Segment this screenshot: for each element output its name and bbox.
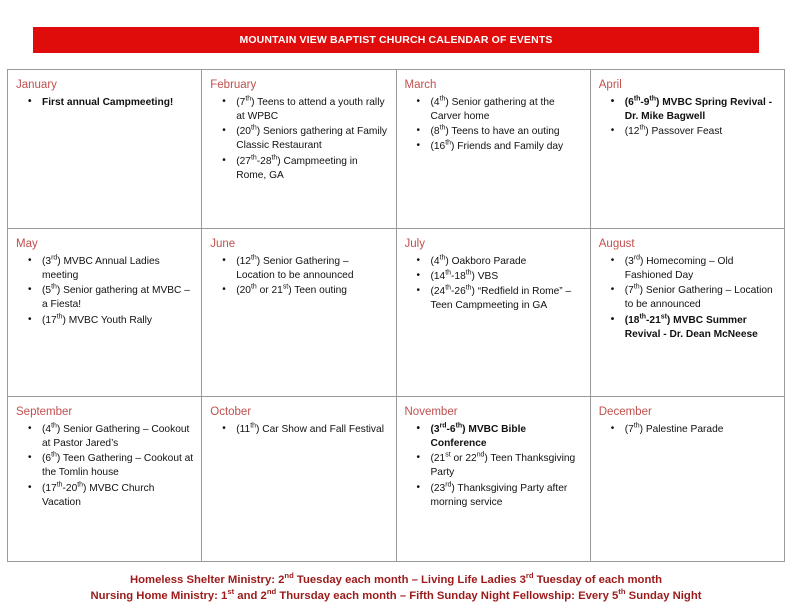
page-title: MOUNTAIN VIEW BAPTIST CHURCH CALENDAR OF… <box>239 34 552 46</box>
event-item: (17th-20th) MVBC Church Vacation <box>40 482 195 511</box>
footer-line: Homeless Shelter Ministry: 2nd Tuesday e… <box>0 572 792 588</box>
month-heading: May <box>16 238 195 251</box>
event-item: (3rd) Homecoming – Old Fashioned Day <box>623 255 778 284</box>
month-heading: March <box>405 79 584 92</box>
month-heading: August <box>599 238 778 251</box>
month-cell-december: December(7th) Palestine Parade <box>590 397 784 562</box>
event-item: (3rd) MVBC Annual Ladies meeting <box>40 255 195 284</box>
event-item: (16th) Friends and Family day <box>429 140 584 154</box>
event-item: (23rd) Thanksgiving Party after morning … <box>429 482 584 511</box>
calendar-row: May(3rd) MVBC Annual Ladies meeting(5th)… <box>8 229 785 397</box>
event-list: (4th) Senior Gathering – Cookout at Past… <box>16 423 195 511</box>
month-heading: September <box>16 406 195 419</box>
event-item: (18th-21st) MVBC Summer Revival - Dr. De… <box>623 314 778 343</box>
event-item: (12th) Passover Feast <box>623 125 778 139</box>
event-list: (7th) Teens to attend a youth rally at W… <box>210 96 389 184</box>
banner-container: MOUNTAIN VIEW BAPTIST CHURCH CALENDAR OF… <box>0 0 792 53</box>
event-item: (4th) Oakboro Parade <box>429 255 584 269</box>
month-cell-september: September(4th) Senior Gathering – Cookou… <box>8 397 202 562</box>
event-item: (6th-9th) MVBC Spring Revival - Dr. Mike… <box>623 96 778 125</box>
event-item: (3rd-6th) MVBC Bible Conference <box>429 423 584 452</box>
event-item: (21st or 22nd) Teen Thanksgiving Party <box>429 452 584 481</box>
month-cell-june: June(12th) Senior Gathering – Location t… <box>202 229 396 397</box>
calendar-row: September(4th) Senior Gathering – Cookou… <box>8 397 785 562</box>
month-heading: July <box>405 238 584 251</box>
month-heading: October <box>210 406 389 419</box>
event-item: (6th) Teen Gathering – Cookout at the To… <box>40 452 195 481</box>
event-item: (17th) MVBC Youth Rally <box>40 314 195 328</box>
month-heading: June <box>210 238 389 251</box>
title-banner: MOUNTAIN VIEW BAPTIST CHURCH CALENDAR OF… <box>33 27 759 53</box>
month-cell-february: February(7th) Teens to attend a youth ra… <box>202 70 396 229</box>
event-list: (12th) Senior Gathering – Location to be… <box>210 255 389 299</box>
month-cell-october: October(11th) Car Show and Fall Festival <box>202 397 396 562</box>
event-list: (3rd) MVBC Annual Ladies meeting(5th) Se… <box>16 255 195 328</box>
event-item: (5th) Senior gathering at MVBC – a Fiest… <box>40 284 195 313</box>
month-heading: April <box>599 79 778 92</box>
month-heading: November <box>405 406 584 419</box>
event-item: (27th-28th) Campmeeting in Rome, GA <box>234 155 389 184</box>
event-list: (6th-9th) MVBC Spring Revival - Dr. Mike… <box>599 96 778 140</box>
event-list: (7th) Palestine Parade <box>599 423 778 437</box>
month-cell-august: August(3rd) Homecoming – Old Fashioned D… <box>590 229 784 397</box>
calendar-table-body: JanuaryFirst annual Campmeeting!February… <box>8 70 785 562</box>
event-item: (8th) Teens to have an outing <box>429 125 584 139</box>
month-cell-january: JanuaryFirst annual Campmeeting! <box>8 70 202 229</box>
event-item: (7th) Teens to attend a youth rally at W… <box>234 96 389 125</box>
calendar-row: JanuaryFirst annual Campmeeting!February… <box>8 70 785 229</box>
month-cell-may: May(3rd) MVBC Annual Ladies meeting(5th)… <box>8 229 202 397</box>
month-cell-november: November(3rd-6th) MVBC Bible Conference(… <box>396 397 590 562</box>
event-item: (14th-18th) VBS <box>429 270 584 284</box>
event-list: (3rd) Homecoming – Old Fashioned Day(7th… <box>599 255 778 343</box>
event-item: (4th) Senior Gathering – Cookout at Past… <box>40 423 195 452</box>
footer-line: Nursing Home Ministry: 1st and 2nd Thurs… <box>0 588 792 604</box>
event-item: (20th or 21st) Teen outing <box>234 284 389 298</box>
month-cell-march: March(4th) Senior gathering at the Carve… <box>396 70 590 229</box>
calendar-page: MOUNTAIN VIEW BAPTIST CHURCH CALENDAR OF… <box>0 0 792 612</box>
month-cell-july: July(4th) Oakboro Parade(14th-18th) VBS(… <box>396 229 590 397</box>
event-item: (20th) Seniors gathering at Family Class… <box>234 125 389 154</box>
event-item: (4th) Senior gathering at the Carver hom… <box>429 96 584 125</box>
footer-ministries: Homeless Shelter Ministry: 2nd Tuesday e… <box>0 572 792 604</box>
event-item: (12th) Senior Gathering – Location to be… <box>234 255 389 284</box>
event-item: (24th-26th) “Redfield in Rome” – Teen Ca… <box>429 285 584 314</box>
event-item: (7th) Palestine Parade <box>623 423 778 437</box>
event-list: (4th) Senior gathering at the Carver hom… <box>405 96 584 155</box>
month-cell-april: April(6th-9th) MVBC Spring Revival - Dr.… <box>590 70 784 229</box>
event-item: First annual Campmeeting! <box>40 96 195 110</box>
month-heading: February <box>210 79 389 92</box>
month-heading: December <box>599 406 778 419</box>
event-list: (11th) Car Show and Fall Festival <box>210 423 389 437</box>
month-heading: January <box>16 79 195 92</box>
event-list: (3rd-6th) MVBC Bible Conference(21st or … <box>405 423 584 511</box>
event-list: First annual Campmeeting! <box>16 96 195 110</box>
calendar-table-container: JanuaryFirst annual Campmeeting!February… <box>0 53 792 562</box>
event-item: (11th) Car Show and Fall Festival <box>234 423 389 437</box>
event-list: (4th) Oakboro Parade(14th-18th) VBS(24th… <box>405 255 584 314</box>
event-item: (7th) Senior Gathering – Location to be … <box>623 284 778 313</box>
calendar-table: JanuaryFirst annual Campmeeting!February… <box>7 69 785 562</box>
